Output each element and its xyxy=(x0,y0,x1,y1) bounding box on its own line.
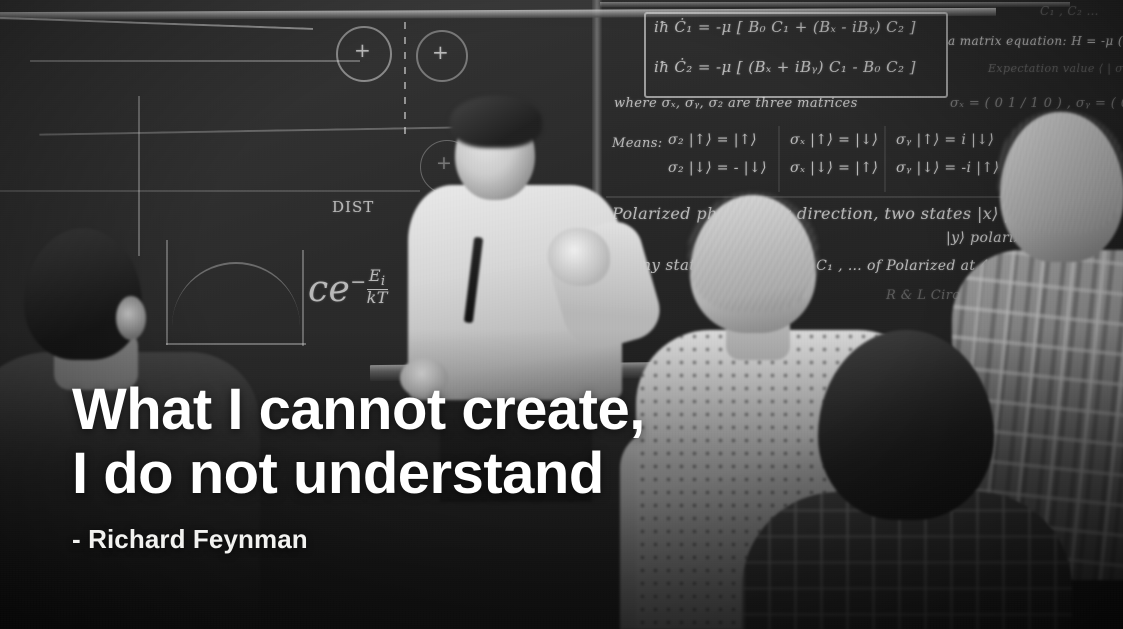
quote-attribution: - Richard Feynman xyxy=(72,524,645,555)
quote-banner: DIST ce−EikT + + + + iħ Ċ₁ = -μ [ B₀ C₁ … xyxy=(0,0,1123,629)
quote-line-2: I do not understand xyxy=(72,442,645,506)
quote-caption: What I cannot create, I do not understan… xyxy=(72,378,645,555)
quote-line-1: What I cannot create, xyxy=(72,378,645,442)
